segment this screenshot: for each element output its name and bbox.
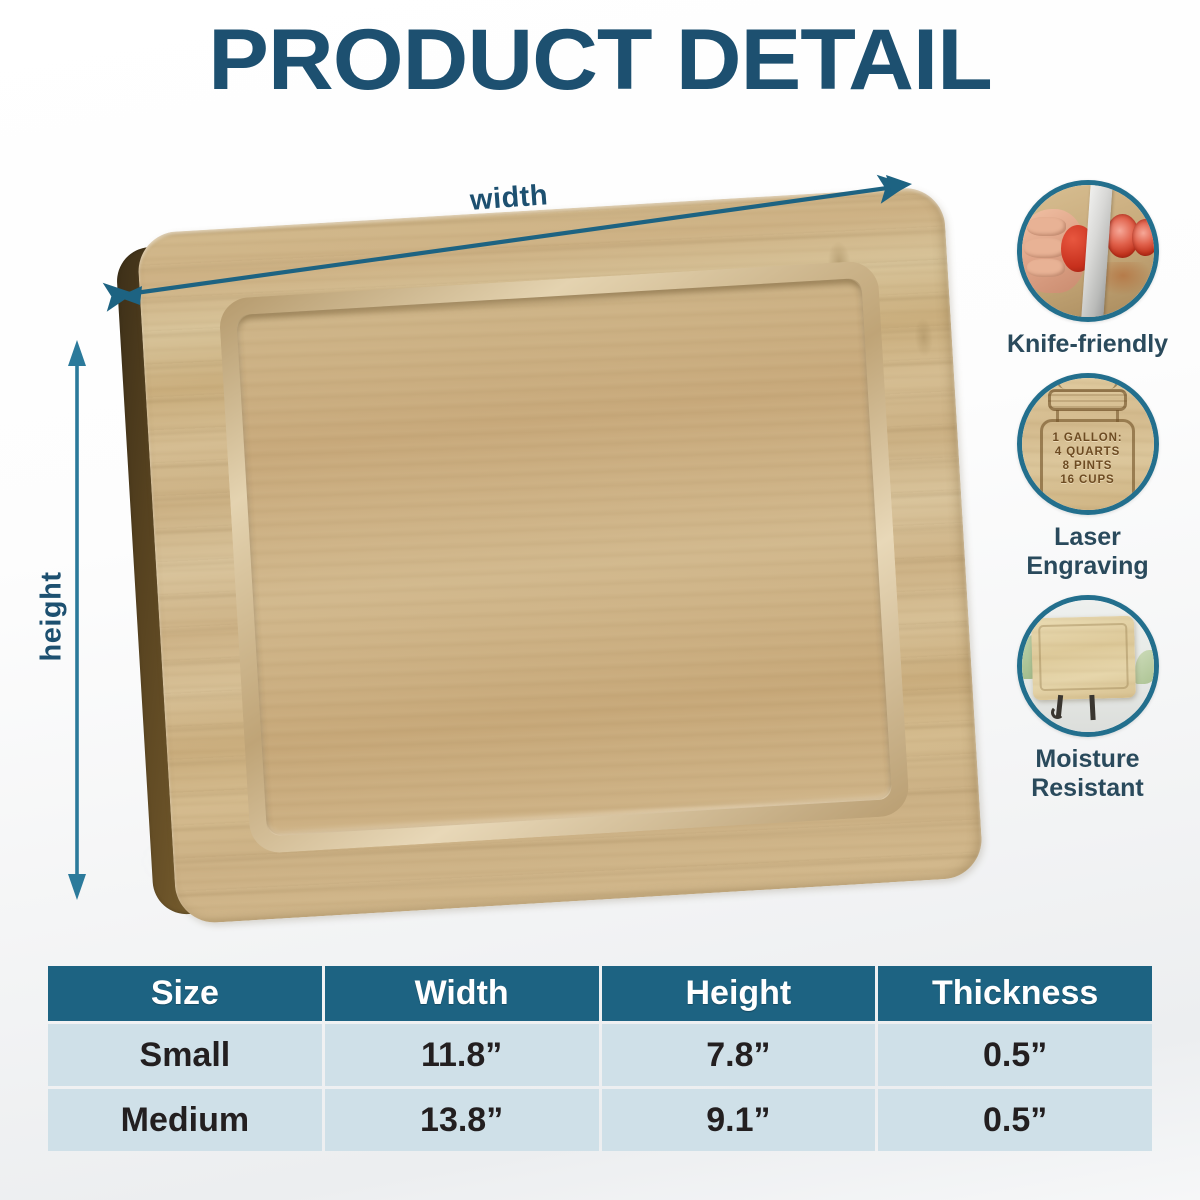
feature-label: Moisture Resistant xyxy=(980,745,1195,803)
knife-tomato-icon xyxy=(1017,180,1159,322)
height-arrow-head-top xyxy=(68,340,86,366)
feature-label: Knife-friendly xyxy=(980,330,1195,359)
cell-size: Medium xyxy=(48,1089,322,1151)
column-header-thickness: Thickness xyxy=(878,966,1152,1021)
table-row: Medium 13.8” 9.1” 0.5” xyxy=(48,1089,1152,1151)
board-on-stand-icon xyxy=(1017,595,1159,737)
cell-size: Small xyxy=(48,1024,322,1086)
cell-height: 7.8” xyxy=(602,1024,876,1086)
height-dimension-label: height xyxy=(36,557,69,677)
page-title: PRODUCT DETAIL xyxy=(0,14,1200,106)
cell-width: 11.8” xyxy=(325,1024,599,1086)
feature-moisture-resistant: Moisture Resistant xyxy=(980,595,1195,803)
groove-inner-surface xyxy=(236,278,892,836)
column-header-size: Size xyxy=(48,966,322,1021)
cell-height: 9.1” xyxy=(602,1089,876,1151)
feature-label: Laser Engraving xyxy=(980,523,1195,581)
feature-badges: Knife-friendly 1 GALLON: 4 QUARTS 8 PINT… xyxy=(980,180,1195,817)
table-row: Small 11.8” 7.8” 0.5” xyxy=(48,1024,1152,1086)
column-header-width: Width xyxy=(325,966,599,1021)
cell-thickness: 0.5” xyxy=(878,1024,1152,1086)
cell-width: 13.8” xyxy=(325,1089,599,1151)
height-arrow-head-bottom xyxy=(68,874,86,900)
feature-knife-friendly: Knife-friendly xyxy=(980,180,1195,359)
cutting-board-image xyxy=(120,200,970,910)
size-spec-table: Size Width Height Thickness Small 11.8” … xyxy=(45,963,1155,1154)
juice-groove xyxy=(218,260,910,854)
product-detail-page: PRODUCT DETAIL width hei xyxy=(0,0,1200,1200)
bamboo-board xyxy=(114,186,983,924)
width-dimension-label: width xyxy=(469,179,549,218)
engraved-mason-jar-icon: 1 GALLON: 4 QUARTS 8 PINTS 16 CUPS xyxy=(1017,373,1159,515)
cell-thickness: 0.5” xyxy=(878,1089,1152,1151)
engraved-text: 1 GALLON: 4 QUARTS 8 PINTS 16 CUPS xyxy=(1022,431,1154,487)
column-header-height: Height xyxy=(602,966,876,1021)
table-header-row: Size Width Height Thickness xyxy=(48,966,1152,1021)
board-surface xyxy=(136,186,984,925)
feature-laser-engraving: 1 GALLON: 4 QUARTS 8 PINTS 16 CUPS Laser… xyxy=(980,373,1195,581)
